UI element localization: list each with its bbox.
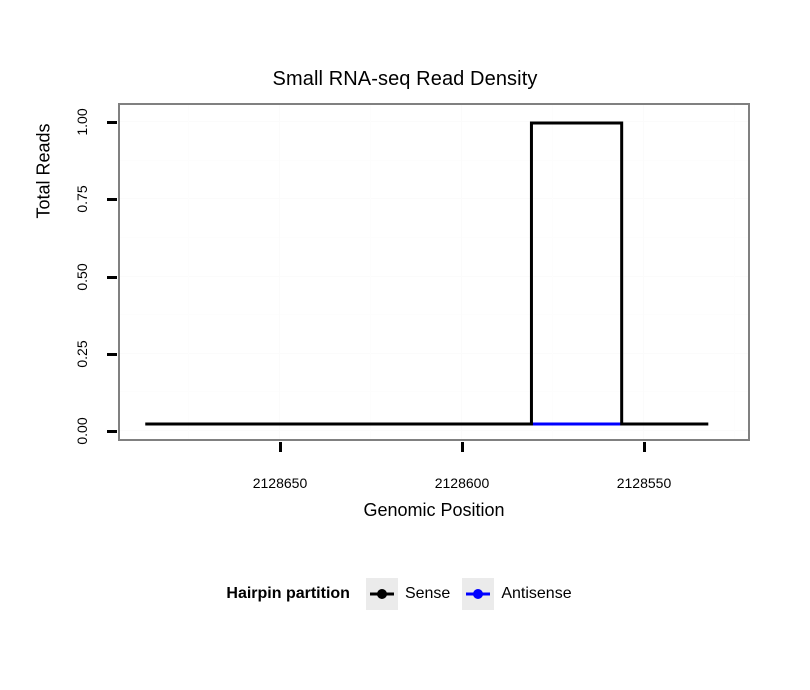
chart-plot: Small RNA-seq Read Density Total Reads G…: [0, 0, 810, 690]
legend-item-antisense[interactable]: Antisense: [462, 578, 571, 610]
y-tick-mark-3: [107, 198, 117, 201]
legend-key-antisense: [462, 578, 494, 610]
y-tick-mark-0: [107, 430, 117, 433]
x-tick-mark-2: [643, 442, 646, 452]
y-tick-label-4: 1.00: [74, 102, 90, 142]
y-axis-title-text: Total Reads: [34, 123, 55, 218]
y-tick-label-3-wrap: 0.75: [62, 191, 102, 207]
series-line-sense: [145, 123, 708, 424]
y-tick-label-0-wrap: 0.00: [62, 423, 102, 439]
legend-label-sense: Sense: [405, 585, 450, 603]
x-tick-mark-0: [279, 442, 282, 452]
y-tick-label-2-wrap: 0.50: [62, 269, 102, 285]
y-axis-title: Total Reads: [34, 193, 55, 219]
x-tick-mark-1: [461, 442, 464, 452]
x-tick-label-2: 2128550: [589, 475, 699, 491]
chart-legend: Hairpin partition Sense Antisense: [0, 578, 810, 610]
x-tick-label-0: 2128650: [225, 475, 335, 491]
x-tick-label-1: 2128600: [407, 475, 517, 491]
y-tick-mark-1: [107, 353, 117, 356]
y-tick-mark-2: [107, 276, 117, 279]
y-tick-label-2: 0.50: [74, 257, 90, 297]
x-axis-title: Genomic Position: [118, 500, 750, 521]
y-tick-label-3: 0.75: [74, 179, 90, 219]
y-tick-label-0: 0.00: [74, 411, 90, 451]
y-tick-label-1-wrap: 0.25: [62, 346, 102, 362]
y-tick-mark-4: [107, 121, 117, 124]
legend-label-antisense: Antisense: [501, 585, 571, 603]
legend-item-sense[interactable]: Sense: [366, 578, 450, 610]
y-tick-label-1: 0.25: [74, 334, 90, 374]
legend-key-sense: [366, 578, 398, 610]
chart-title: Small RNA-seq Read Density: [0, 68, 810, 91]
plot-panel: [118, 103, 750, 441]
legend-title: Hairpin partition: [226, 585, 350, 603]
line-point-icon: [463, 579, 493, 609]
line-point-icon: [367, 579, 397, 609]
data-layer: [120, 105, 748, 439]
y-tick-label-4-wrap: 1.00: [62, 114, 102, 130]
